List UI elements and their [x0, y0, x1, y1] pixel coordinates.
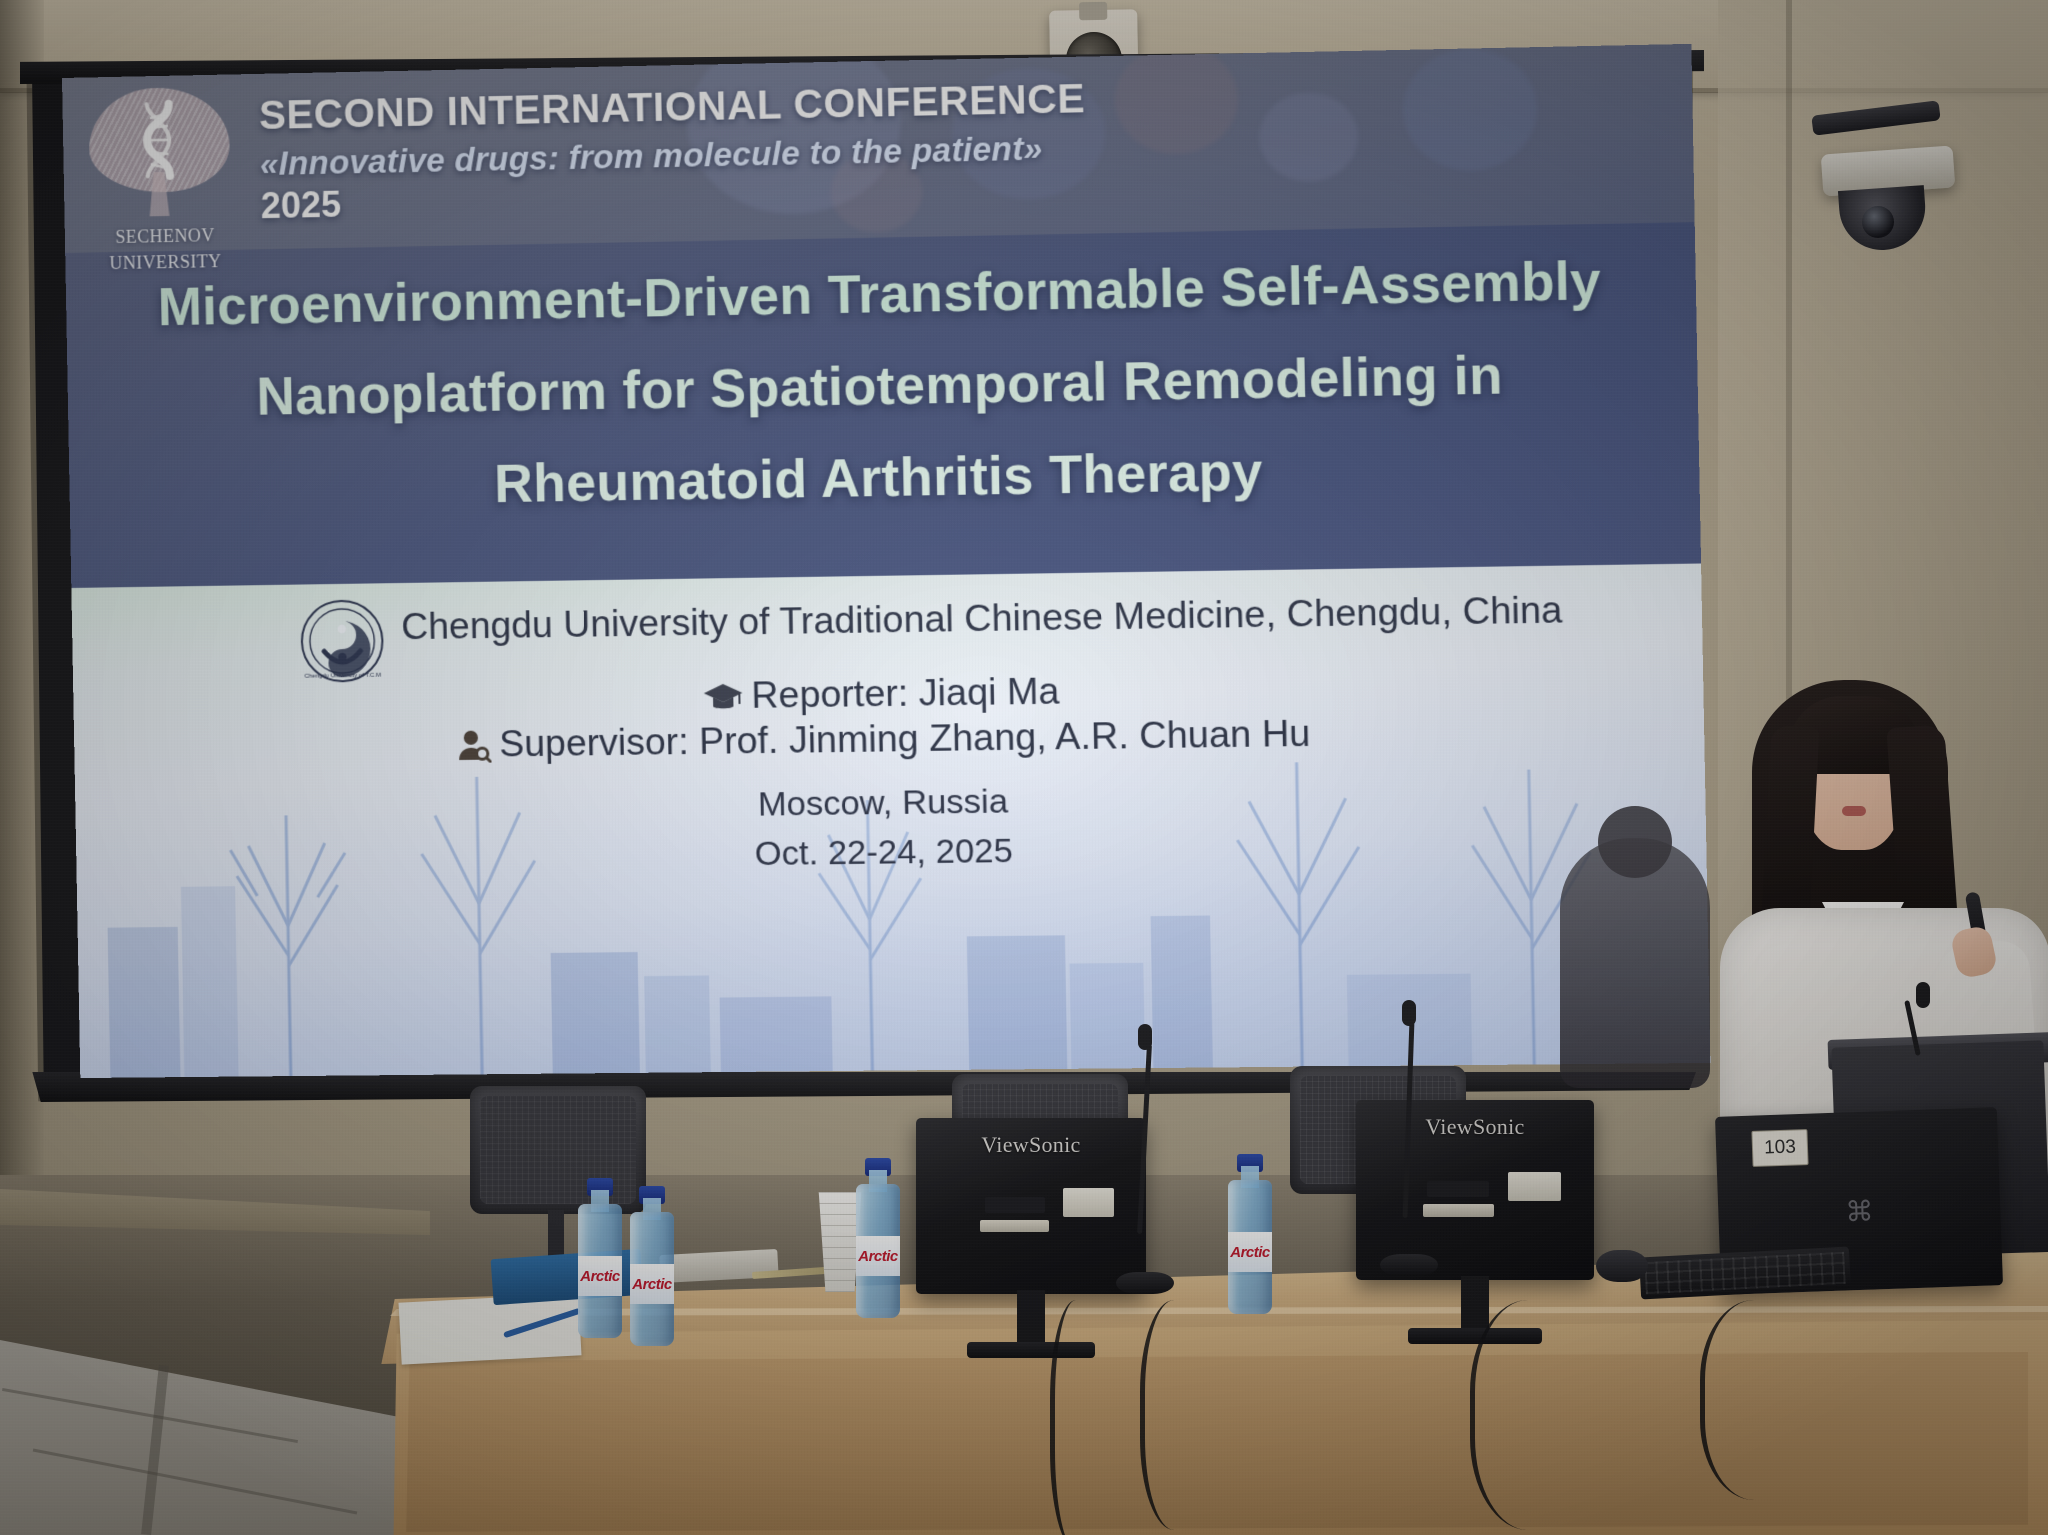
- bottle-label: Arctic: [856, 1236, 900, 1276]
- sechenov-university-logo: Sechenov University: [84, 82, 235, 220]
- mic-rod: [1904, 1000, 1921, 1056]
- speaker-mount: [1079, 2, 1107, 20]
- monitor-stand-neck: [1017, 1290, 1045, 1346]
- mic-base: [1380, 1254, 1438, 1276]
- bottle-label: Arctic: [1228, 1232, 1272, 1272]
- room-number-label: 103: [1751, 1129, 1808, 1167]
- skyline-building: [967, 935, 1068, 1069]
- bottle-brand-text: Arctic: [632, 1276, 672, 1293]
- chengdu-university-seal-icon: Chengdu University of T.C.M: [299, 598, 385, 683]
- dna-helix-icon: [134, 100, 182, 183]
- cable: [1700, 1300, 1835, 1500]
- mic-rod: [1137, 1044, 1152, 1234]
- person-search-icon: [457, 729, 492, 773]
- monitor-stand-neck: [1461, 1276, 1490, 1332]
- bottle-brand-text: Arctic: [1230, 1244, 1270, 1261]
- slide-title: Microenvironment-Driven Transformable Se…: [66, 253, 1701, 556]
- title-line-3: Rheumatoid Arthritis Therapy: [69, 438, 1700, 518]
- podium-microphone: [1880, 1000, 1950, 1060]
- water-bottle: Arctic: [630, 1186, 674, 1346]
- cable: [1470, 1300, 1615, 1530]
- desk-microphone: [1112, 1044, 1182, 1294]
- graduation-cap-icon: [702, 680, 743, 723]
- mic-head: [1916, 982, 1930, 1008]
- slide-lower-band: Chengdu University of T.C.M Chengdu Univ…: [71, 563, 1710, 1078]
- sechenov-university-wordmark: Sechenov University: [91, 221, 240, 275]
- monitor-sticker-qr: [1063, 1188, 1114, 1216]
- cable: [1050, 1300, 1115, 1535]
- water-bottle: Arctic: [1228, 1154, 1272, 1314]
- laptop-logo-icon: ⌘: [1842, 1197, 1877, 1228]
- cable: [1140, 1300, 1225, 1530]
- skyline-building: [644, 975, 711, 1072]
- water-bottle: Arctic: [856, 1158, 900, 1318]
- decor-blob: [1402, 47, 1538, 172]
- mic-base: [1116, 1272, 1174, 1294]
- desk-microphone: [1376, 1022, 1446, 1272]
- svg-text:Chengdu University of T.C.M: Chengdu University of T.C.M: [305, 672, 382, 679]
- mic-head: [1138, 1024, 1152, 1050]
- mic-head: [1402, 1000, 1416, 1026]
- monitor-sticker-qr: [1508, 1172, 1560, 1201]
- bottle-brand-text: Arctic: [580, 1268, 620, 1285]
- sechenov-word-2: University: [91, 246, 240, 274]
- mic-rod: [1403, 1022, 1415, 1218]
- camera-lens-icon: [1862, 206, 1894, 238]
- bottle-label: Arctic: [578, 1256, 622, 1296]
- reporter-text: Reporter: Jiaqi Ma: [751, 670, 1060, 716]
- chair-stem: [548, 1210, 564, 1258]
- skyline-building: [108, 927, 181, 1078]
- monitor-sticker-label: [980, 1220, 1049, 1232]
- conference-header: SECOND INTERNATIONAL CONFERENCE «Innovat…: [259, 70, 1401, 227]
- water-bottle: Arctic: [578, 1178, 622, 1338]
- presenter-lips: [1842, 806, 1866, 816]
- lecture-hall-photo: Sechenov University SECOND INTERNATIONAL…: [0, 0, 2048, 1535]
- projected-slide: Sechenov University SECOND INTERNATIONAL…: [62, 44, 1710, 1078]
- bottle-brand-text: Arctic: [858, 1248, 898, 1265]
- bottle-label: Arctic: [630, 1264, 674, 1304]
- mouse[interactable]: [1596, 1250, 1648, 1282]
- title-line-2: Nanoplatform for Spatiotemporal Remodeli…: [67, 345, 1698, 427]
- sechenov-word-1: Sechenov: [91, 221, 240, 249]
- paper-sheet: [399, 1293, 582, 1364]
- affiliation-text: Chengdu University of Traditional Chines…: [401, 589, 1563, 648]
- seated-person-silhouette: [1560, 838, 1710, 1088]
- monitor-sticker-dark: [985, 1197, 1045, 1213]
